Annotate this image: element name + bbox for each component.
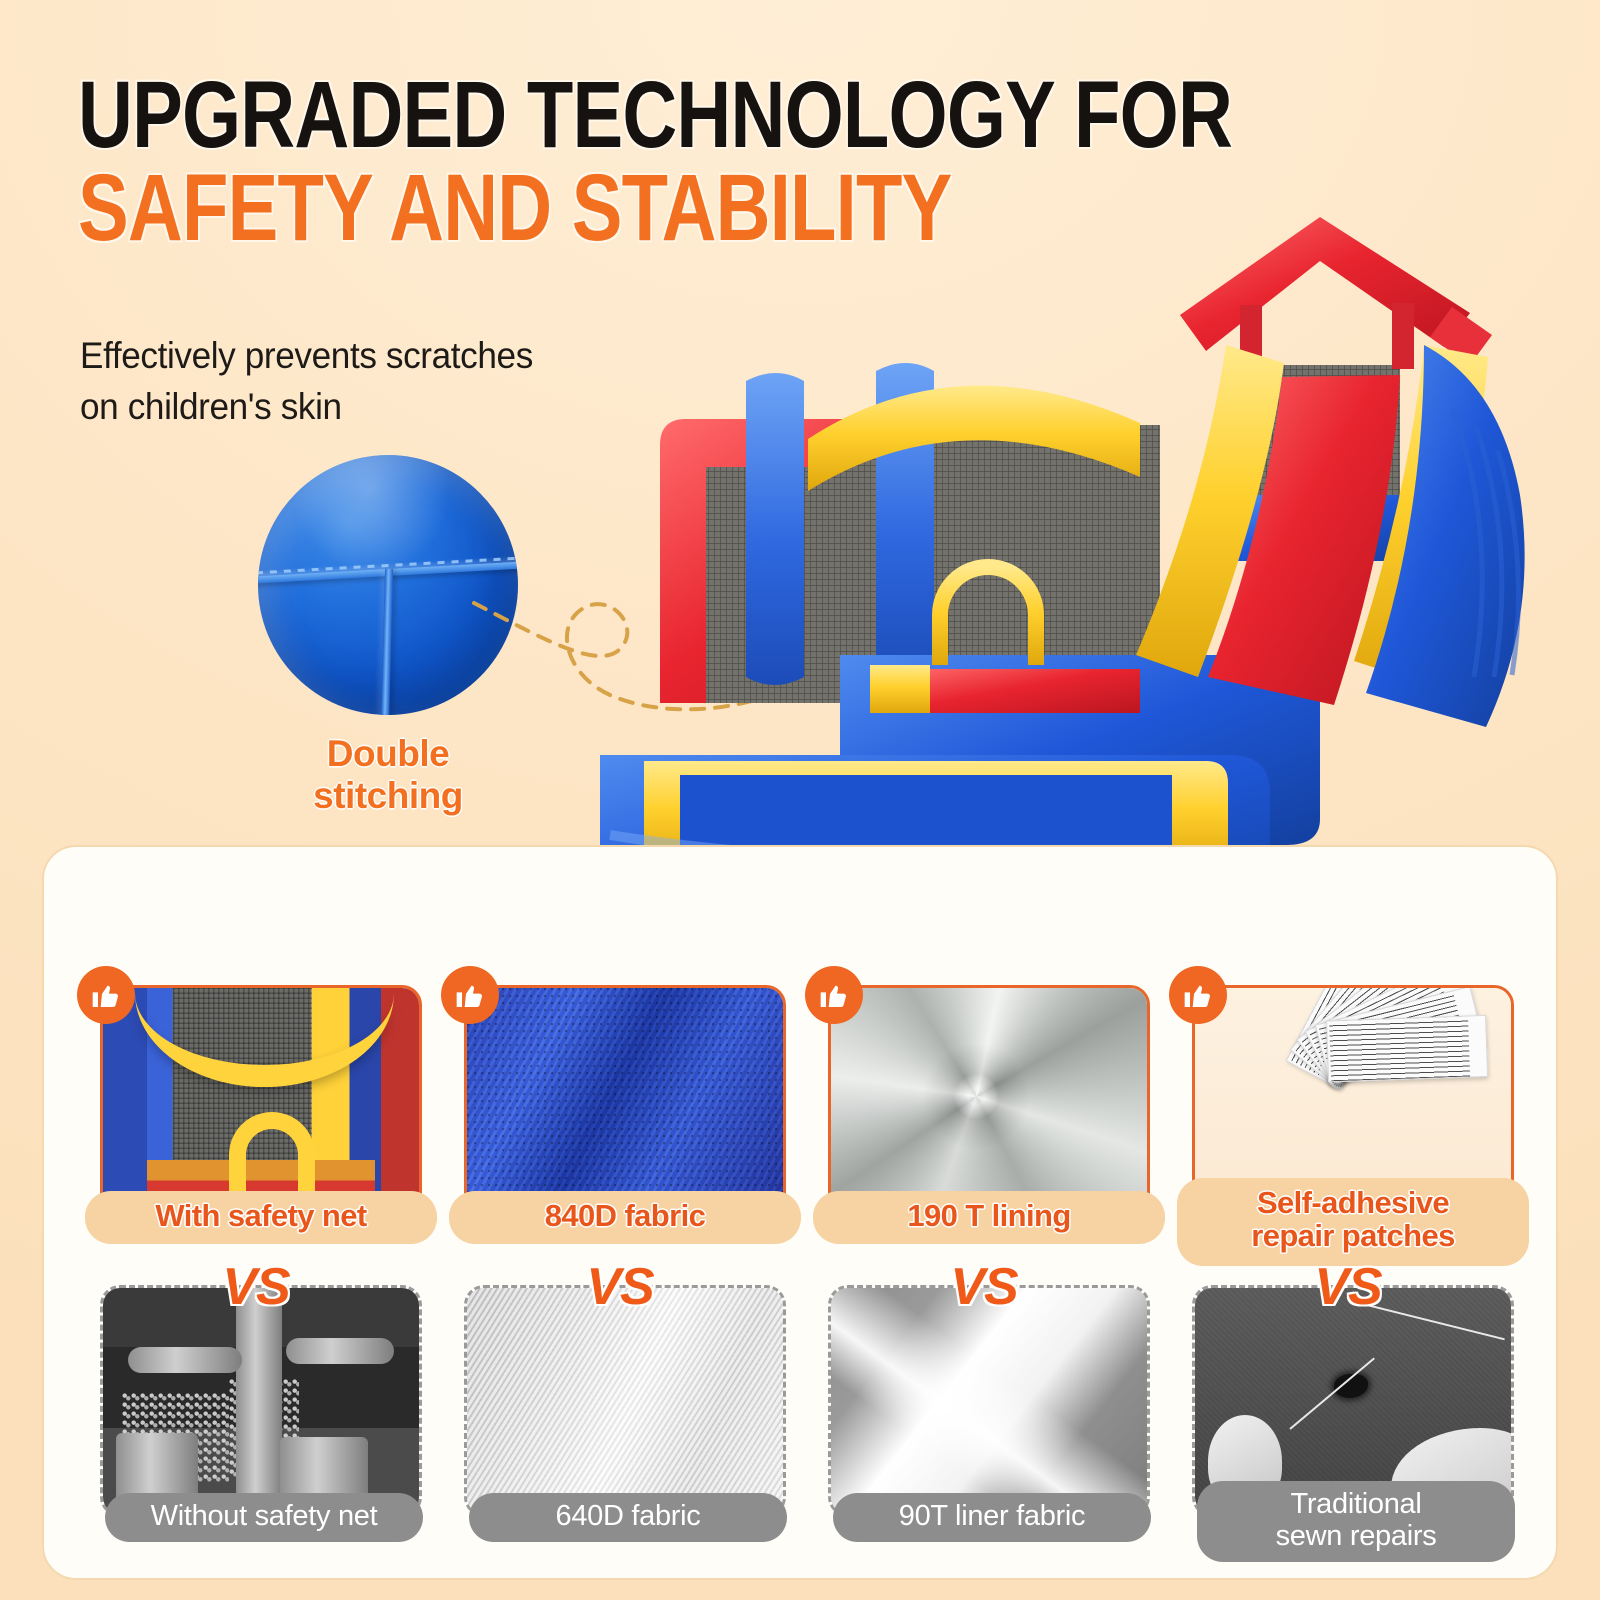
torn-fabric-texture: [1195, 1288, 1511, 1514]
double-stitching-label: Double stitching: [258, 733, 518, 817]
90t-liner-fabric-image: [831, 1288, 1147, 1514]
bad-card[interactable]: 640D fabric: [464, 1285, 786, 1517]
white-thin-fabric-texture: [831, 1288, 1147, 1514]
good-label-pill: 190 T lining: [813, 1191, 1165, 1244]
bad-label-pill: 90T liner fabric: [833, 1493, 1151, 1542]
yellow-floor-edge: [870, 665, 930, 713]
bounce-house-product-image: [540, 195, 1600, 955]
thumbs-up-icon: [441, 966, 499, 1024]
blue-column-left: [746, 373, 804, 685]
bad-label-line-1: Traditional: [1201, 1489, 1511, 1520]
comparison-grid: With safety net VS Without safety net: [78, 985, 1528, 1555]
good-card[interactable]: Self-adhesive repair patches: [1192, 985, 1514, 1217]
with-safety-net-image: [103, 988, 419, 1214]
bad-card[interactable]: Traditional sewn repairs: [1192, 1285, 1514, 1517]
subheadline-line-1: Effectively prevents scratches: [80, 330, 533, 381]
grey-fabric-texture: [467, 1288, 783, 1514]
bounce-house-interior-texture: [103, 988, 419, 1214]
good-card[interactable]: 840D fabric: [464, 985, 786, 1217]
bad-label-pill: Traditional sewn repairs: [1197, 1481, 1515, 1562]
good-label-pill: 840D fabric: [449, 1191, 801, 1244]
thumbs-up-icon: [805, 966, 863, 1024]
bad-card[interactable]: Without safety net: [100, 1285, 422, 1517]
vs-divider: VS: [1170, 1257, 1526, 1317]
subheadline-block: Effectively prevents scratches on childr…: [80, 330, 533, 432]
thumbs-up-icon: [77, 966, 135, 1024]
comparison-column-safety-net: With safety net VS Without safety net: [78, 985, 434, 1555]
red-interior-floor: [906, 669, 1140, 713]
good-label-line-1: Self-adhesive: [1181, 1187, 1525, 1220]
bad-label-pill: Without safety net: [105, 1493, 423, 1542]
vertical-seam: [381, 569, 393, 715]
840d-fabric-image: [467, 988, 783, 1214]
vs-divider: VS: [806, 1257, 1162, 1317]
thumbs-up-icon: [1169, 966, 1227, 1024]
headline-line-1: UPGRADED TECHNOLOGY FOR: [78, 72, 1022, 159]
good-label-line-2: repair patches: [1181, 1220, 1525, 1253]
vs-divider: VS: [442, 1257, 798, 1317]
infographic-canvas: UPGRADED TECHNOLOGY FOR SAFETY AND STABI…: [0, 0, 1600, 1600]
vs-divider: VS: [78, 1257, 434, 1317]
good-card[interactable]: With safety net: [100, 985, 422, 1217]
comparison-column-lining: 190 T lining VS 90T liner fabric: [806, 985, 1162, 1555]
traditional-sewn-repairs-image: [1195, 1288, 1511, 1514]
good-card[interactable]: 190 T lining: [828, 985, 1150, 1217]
silver-satin-texture: [831, 988, 1147, 1214]
good-label-pill: Self-adhesive repair patches: [1177, 1178, 1529, 1266]
comparison-column-repair: Self-adhesive repair patches VS Tradi: [1170, 985, 1526, 1555]
190t-lining-image: [831, 988, 1147, 1214]
subheadline-line-2: on children's skin: [80, 381, 533, 432]
without-safety-net-image: [103, 1288, 419, 1514]
no-net-photo-texture: [103, 1288, 419, 1514]
640d-fabric-image: [467, 1288, 783, 1514]
bad-label-pill: 640D fabric: [469, 1493, 787, 1542]
good-label-pill: With safety net: [85, 1191, 437, 1244]
comparison-column-fabric: 840D fabric VS 640D fabric: [442, 985, 798, 1555]
bad-label-line-2: sewn repairs: [1201, 1521, 1511, 1552]
bad-card[interactable]: 90T liner fabric: [828, 1285, 1150, 1517]
blue-mesh-fabric-texture: [467, 988, 783, 1214]
